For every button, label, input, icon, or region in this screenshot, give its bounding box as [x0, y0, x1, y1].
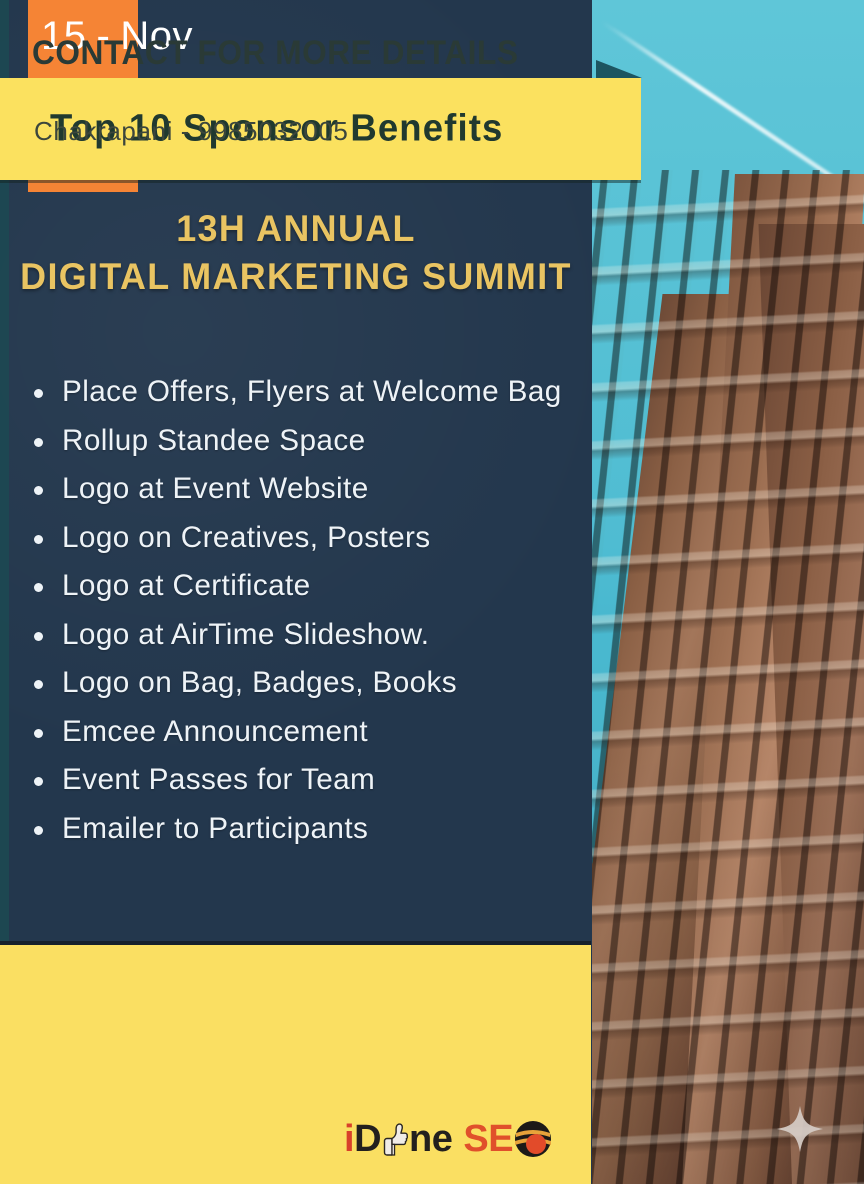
benefit-text: Place Offers, Flyers at Welcome Bag: [62, 368, 562, 417]
benefit-text: Emcee Announcement: [62, 708, 368, 757]
striped-sphere-icon: [514, 1120, 552, 1158]
list-item: Logo at AirTime Slideshow.: [26, 611, 586, 660]
list-item: Emailer to Participants: [26, 805, 586, 854]
idone-seo-logo: iD ne SE: [344, 1120, 552, 1158]
benefit-text: Logo at Certificate: [62, 562, 311, 611]
list-item: Place Offers, Flyers at Welcome Bag: [26, 368, 586, 417]
poster-canvas: Top 10 Sponsor Benefits 15 - Nov 13H ANN…: [0, 0, 864, 1184]
list-item: Logo on Bag, Badges, Books: [26, 659, 586, 708]
benefit-text: Logo at AirTime Slideshow.: [62, 611, 429, 660]
contact-details: Chakrapani - 9985032005: [34, 116, 348, 147]
event-title-line-2: DIGITAL MARKETING SUMMIT: [9, 253, 583, 301]
benefit-text: Logo at Event Website: [62, 465, 369, 514]
benefit-text: Rollup Standee Space: [62, 417, 365, 466]
logo-text-part-3: SE: [463, 1120, 513, 1158]
benefits-list: Place Offers, Flyers at Welcome Bag Roll…: [26, 368, 586, 853]
benefit-text: Event Passes for Team: [62, 756, 375, 805]
banner-shadow-fold: [596, 60, 642, 78]
event-title-line-1: 13H ANNUAL: [9, 205, 583, 253]
benefit-text: Emailer to Participants: [62, 805, 368, 854]
event-title: 13H ANNUAL DIGITAL MARKETING SUMMIT: [0, 205, 592, 301]
list-item: Rollup Standee Space: [26, 417, 586, 466]
four-point-sparkle-icon: [777, 1106, 823, 1152]
list-item: Event Passes for Team: [26, 756, 586, 805]
contact-heading: CONTACT FOR MORE DETAILS: [32, 34, 518, 73]
logo-text-part-1: iD: [344, 1120, 381, 1158]
list-item: Logo at Certificate: [26, 562, 586, 611]
list-item: Emcee Announcement: [26, 708, 586, 757]
list-item: Logo on Creatives, Posters: [26, 514, 586, 563]
list-item: Logo at Event Website: [26, 465, 586, 514]
logo-letter-i: i: [344, 1118, 354, 1160]
thumbs-up-icon: [382, 1122, 408, 1156]
benefit-text: Logo on Bag, Badges, Books: [62, 659, 457, 708]
benefit-text: Logo on Creatives, Posters: [62, 514, 431, 563]
logo-text-part-2: ne: [409, 1120, 452, 1158]
